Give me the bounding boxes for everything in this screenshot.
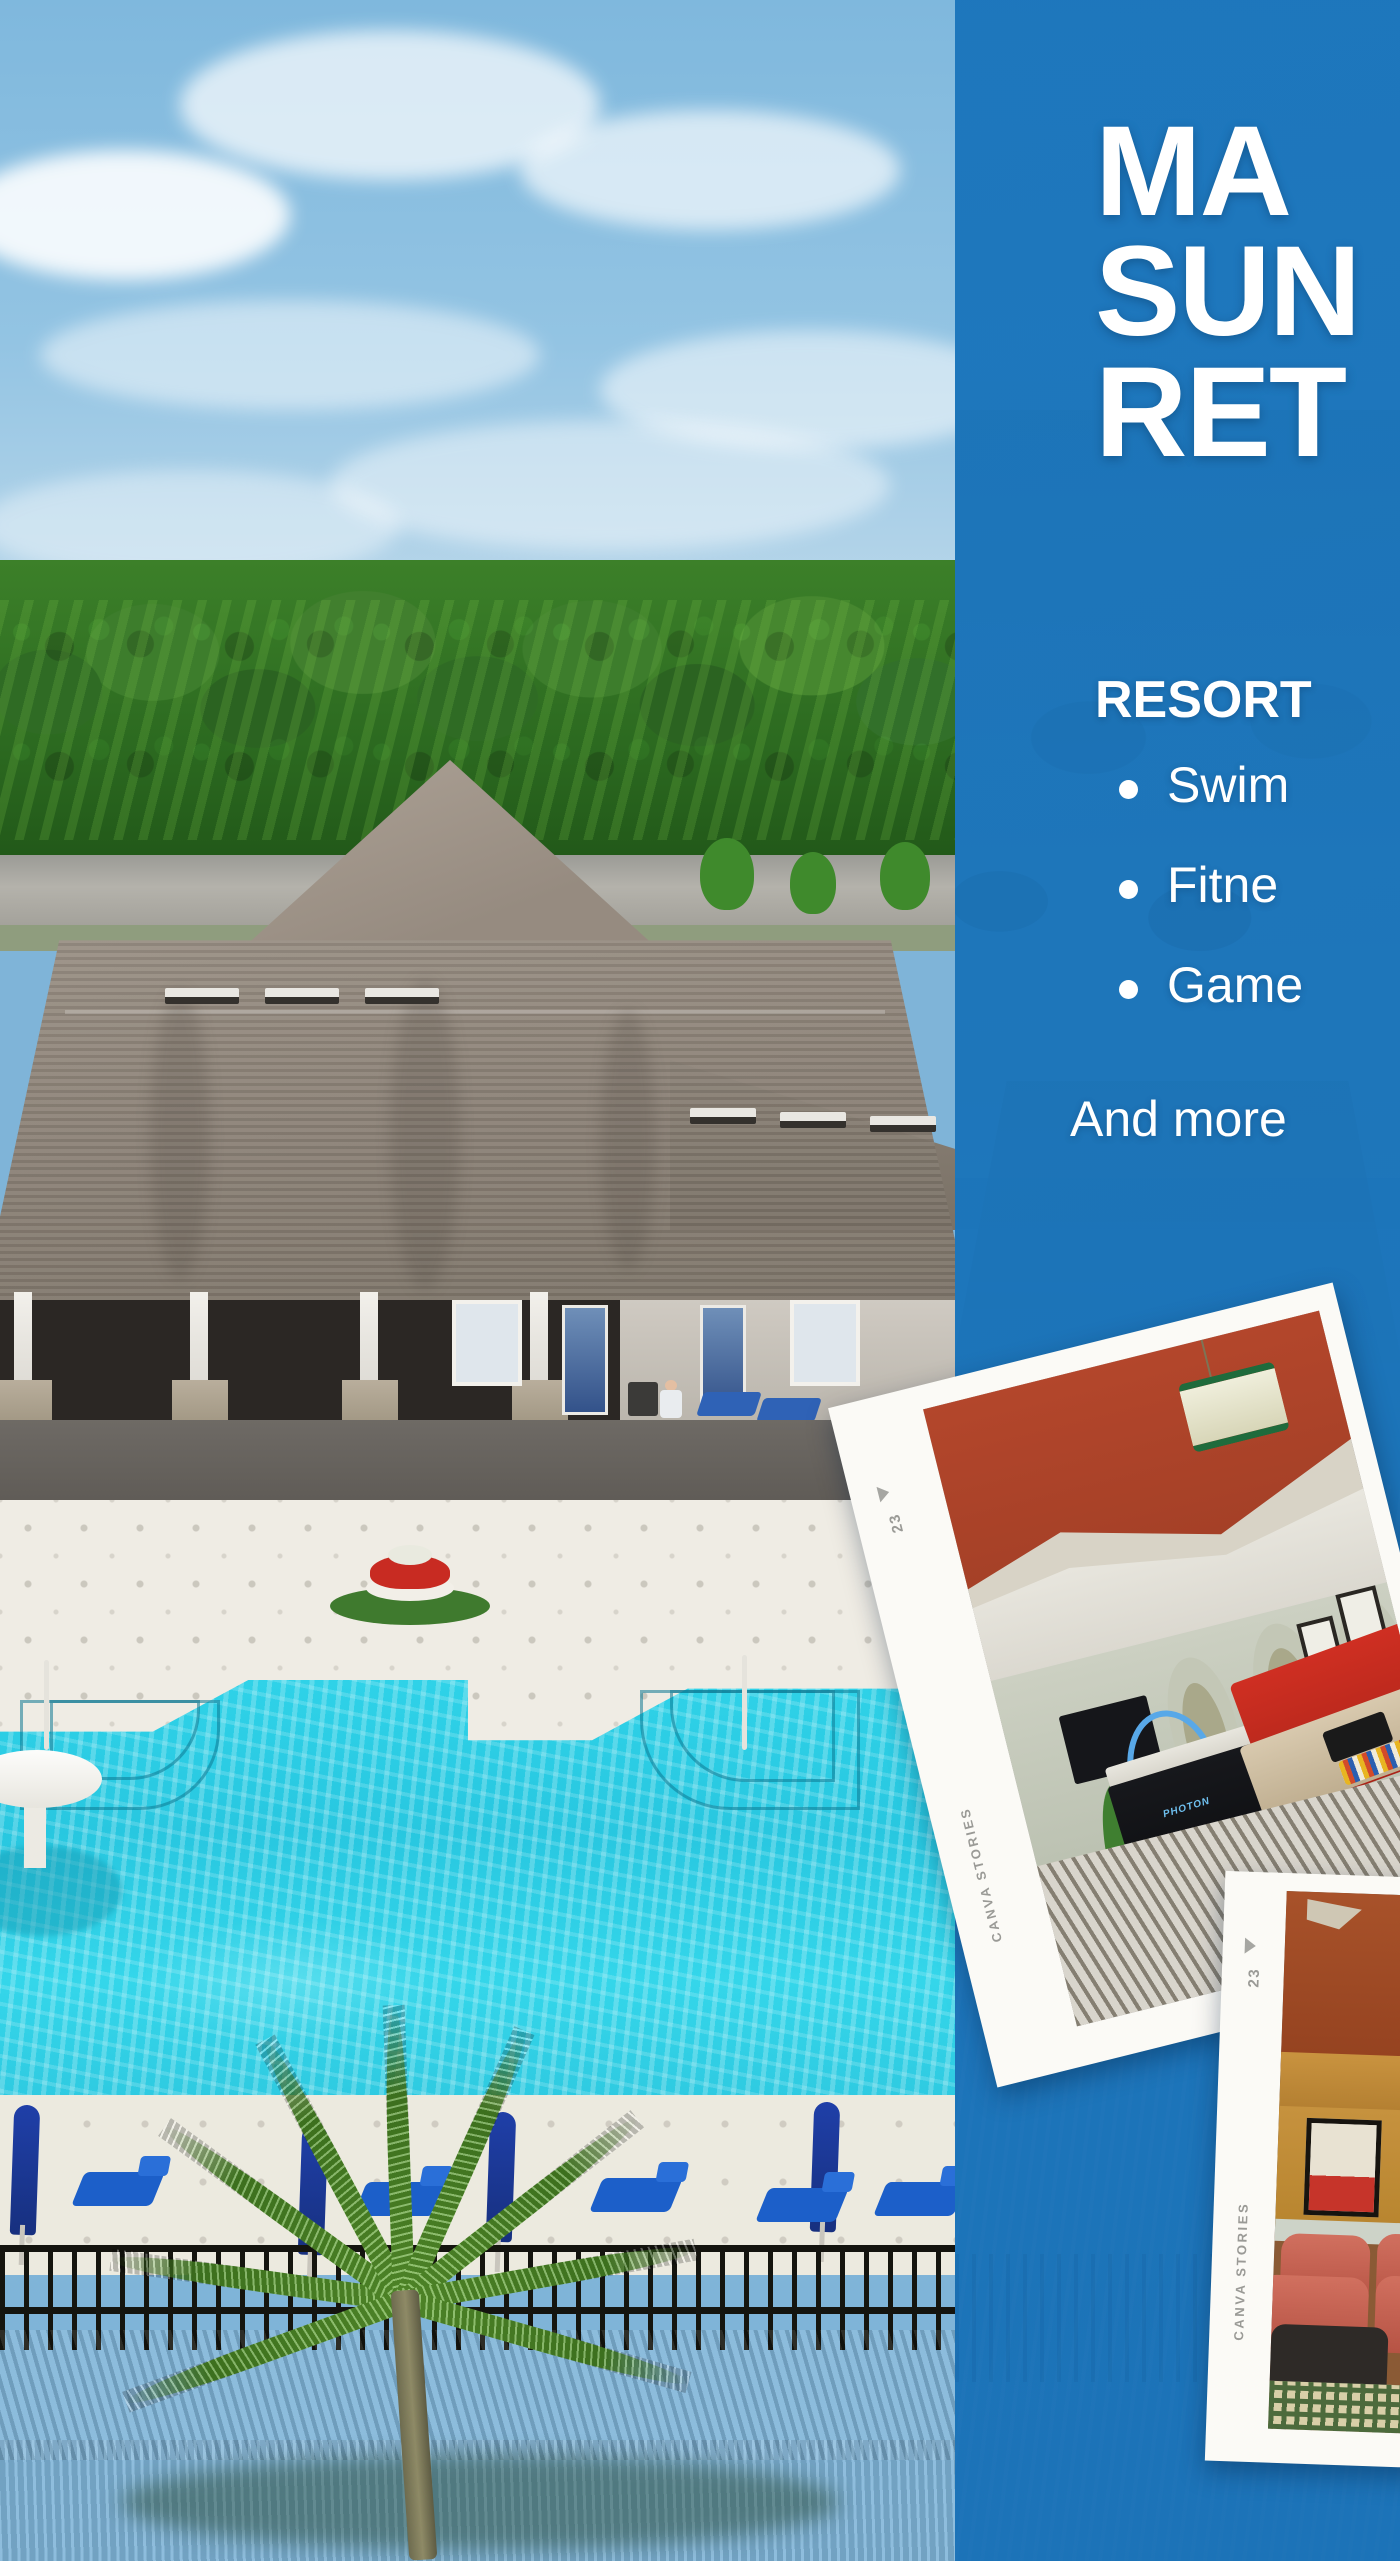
mushroom-fountain (0, 1750, 102, 1870)
fountain-cap (0, 1750, 102, 1808)
slide-canvas: MA SUN RET RESORT Swim Fitne Game And mo… (0, 0, 1400, 2561)
amenity-item: Game (1105, 960, 1400, 1010)
patio-chair (628, 1382, 658, 1416)
headline-line-2: SUN (1095, 232, 1400, 352)
theater-room-photo (1268, 1891, 1400, 2441)
cloud (330, 420, 890, 550)
amenities-list: Swim Fitne Game (1105, 760, 1400, 1060)
poster-artwork (1308, 2123, 1377, 2212)
roof-shingle-texture (0, 890, 955, 1310)
roof-vent (365, 988, 439, 1004)
amenity-item: Fitne (1105, 860, 1400, 910)
palm-tree (70, 1990, 790, 2550)
lounge-chair (873, 2182, 955, 2216)
headline: MA SUN RET (1095, 112, 1400, 473)
headline-line-3: RET (1095, 353, 1400, 473)
clubhouse-window (452, 1300, 522, 1386)
roof-vent (870, 1116, 936, 1132)
roof-stain (600, 1010, 656, 1270)
lounge-chair (756, 1398, 822, 1422)
flower-planter (330, 1545, 490, 1625)
roof-vent (780, 1112, 846, 1128)
patterned-carpet (1268, 2380, 1400, 2440)
and-more-text: And more (1070, 1090, 1287, 1148)
clubhouse-door (562, 1305, 608, 1415)
lounge-chair (696, 1392, 762, 1416)
planter-crown (388, 1545, 432, 1565)
polaroid-caption: CANVA STORIES (957, 1805, 1005, 1944)
cloud (40, 300, 540, 410)
roof-stain (390, 980, 460, 1290)
closed-umbrella (10, 2105, 41, 2236)
person-seated (660, 1380, 682, 1418)
roof-vent (165, 988, 239, 1004)
clubhouse-pavilion (0, 760, 955, 1320)
amenity-item: Swim (1105, 760, 1400, 810)
roof-vent (690, 1108, 756, 1124)
play-triangle-icon (1245, 1938, 1257, 1954)
polaroid-number: 23 (886, 1511, 907, 1534)
roof-peak (230, 760, 670, 960)
pool-handrail (742, 1655, 747, 1750)
theater-scene (1268, 1891, 1400, 2441)
headline-line-1: MA (1095, 112, 1400, 232)
movie-poster (1303, 2118, 1382, 2217)
subtitle: RESORT (1095, 670, 1400, 730)
palm-trunk (391, 2289, 438, 2560)
pool-handrail (44, 1660, 49, 1750)
roof-stain (150, 990, 210, 1280)
play-triangle-icon (877, 1484, 892, 1502)
theater-seating (1269, 2230, 1400, 2403)
roof-vent (265, 988, 339, 1004)
polaroid-number: 23 (1245, 1968, 1263, 1988)
resort-aerial-photo (0, 0, 955, 2561)
cloud (520, 110, 900, 230)
patio-floor (0, 1420, 955, 1510)
polaroid-caption: CANVA STORIES (1231, 2201, 1251, 2340)
palm-frond (122, 2289, 411, 2412)
palm-frond (397, 2289, 691, 2393)
clubhouse-window (790, 1300, 860, 1386)
polaroid-theater-room[interactable]: 23 CANVA STORIES (1205, 1871, 1400, 2475)
